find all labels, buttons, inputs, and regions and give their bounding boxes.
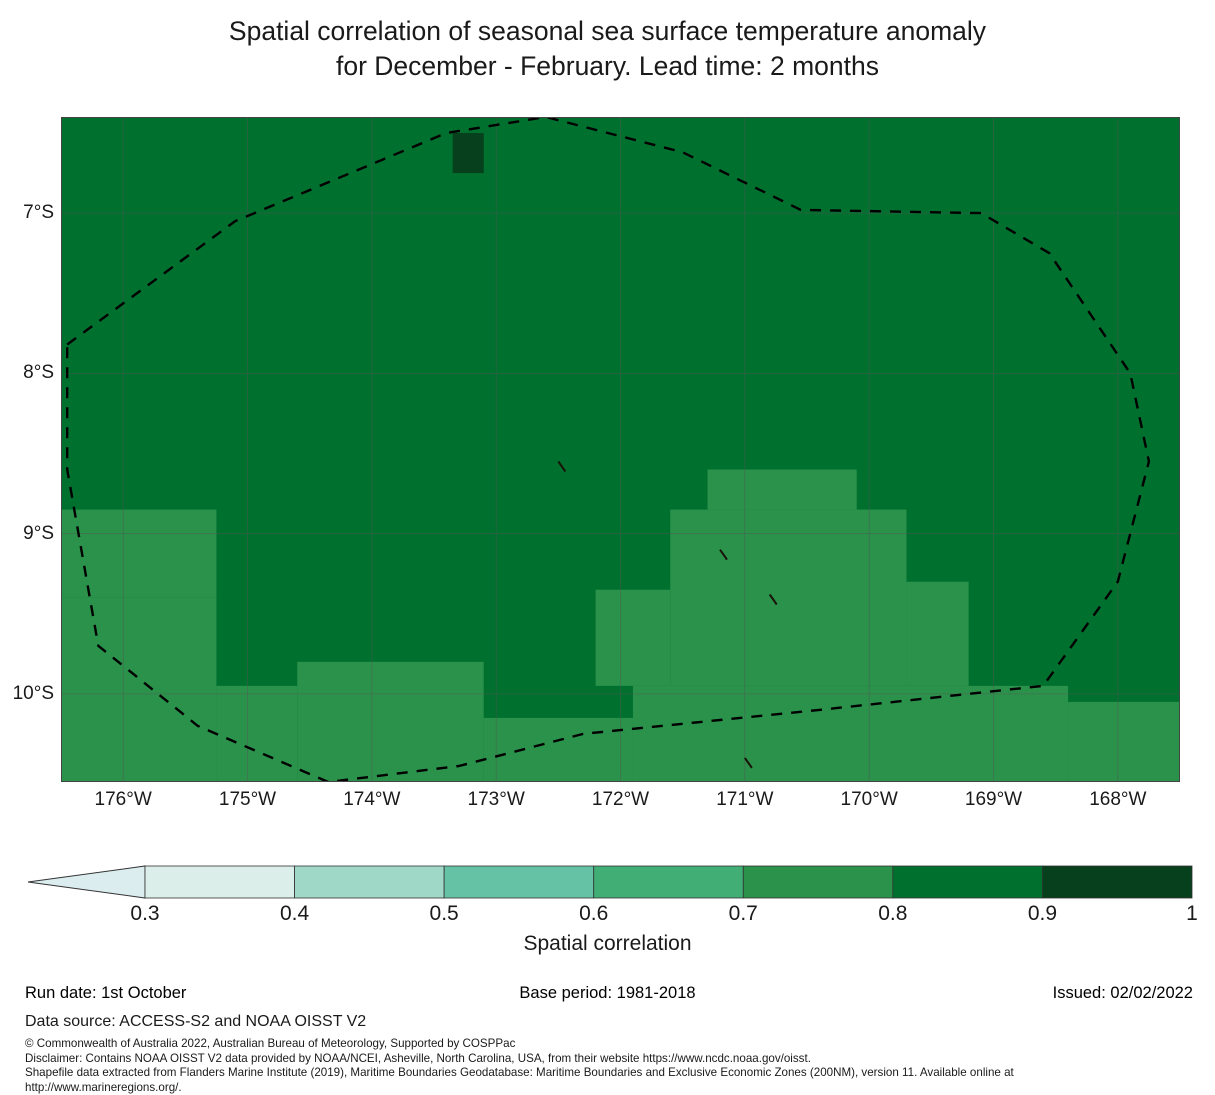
colorbar-tick-label: 0.4 bbox=[235, 902, 355, 926]
shapefile-line-2: http://www.marineregions.org/. bbox=[25, 1081, 1210, 1095]
heatmap-region bbox=[453, 133, 484, 173]
issued-date: Issued: 02/02/2022 bbox=[1053, 984, 1193, 1003]
colorbar-swatch bbox=[893, 866, 1043, 898]
colorbar-under-arrow bbox=[28, 866, 145, 898]
colorbar-tick-label: 0.5 bbox=[384, 902, 504, 926]
data-source-text: Data source: ACCESS-S2 and NOAA OISST V2 bbox=[25, 1013, 366, 1031]
colorbar-swatch bbox=[295, 866, 445, 898]
heatmap-canvas bbox=[61, 117, 1180, 782]
y-tick-label: 8°S bbox=[0, 362, 54, 384]
copyright-line: © Commonwealth of Australia 2022, Austra… bbox=[25, 1037, 1210, 1052]
y-tick-label: 9°S bbox=[0, 523, 54, 545]
colorbar-swatch bbox=[145, 866, 295, 898]
title-line-1: Spatial correlation of seasonal sea surf… bbox=[0, 14, 1215, 49]
colorbar-tick-label: 0.3 bbox=[85, 902, 205, 926]
legal-fineprint: © Commonwealth of Australia 2022, Austra… bbox=[25, 1037, 1210, 1095]
colorbar-swatches bbox=[0, 862, 1215, 902]
heatmap-region bbox=[484, 718, 633, 782]
heatmap-region bbox=[297, 662, 484, 782]
y-tick-label: 10°S bbox=[0, 683, 54, 705]
shapefile-line-1: Shapefile data extracted from Flanders M… bbox=[25, 1066, 1210, 1081]
colorbar-swatch bbox=[594, 866, 744, 898]
x-tick-label: 168°W bbox=[1038, 789, 1198, 811]
disclaimer-line: Disclaimer: Contains NOAA OISST V2 data … bbox=[25, 1052, 1210, 1067]
colorbar-tick-label: 0.6 bbox=[534, 902, 654, 926]
map-plot-area bbox=[61, 117, 1180, 782]
colorbar-swatch bbox=[743, 866, 893, 898]
colorbar-tick-label: 0.9 bbox=[982, 902, 1102, 926]
heatmap-region bbox=[596, 590, 671, 686]
title-line-2: for December - February. Lead time: 2 mo… bbox=[0, 49, 1215, 84]
heatmap-region bbox=[216, 686, 297, 782]
colorbar: 0.30.40.50.60.70.80.91 Spatial correlati… bbox=[0, 862, 1215, 962]
colorbar-tick-label: 0.7 bbox=[683, 902, 803, 926]
heatmap-region bbox=[1068, 702, 1180, 782]
heatmap-region bbox=[61, 598, 216, 782]
heatmap-region bbox=[906, 582, 968, 686]
base-period: Base period: 1981-2018 bbox=[0, 984, 1215, 1003]
heatmap-region bbox=[633, 686, 1068, 782]
colorbar-tick-label: 0.8 bbox=[833, 902, 953, 926]
page-title: Spatial correlation of seasonal sea surf… bbox=[0, 14, 1215, 84]
heatmap-region bbox=[670, 510, 906, 686]
colorbar-tick-label: 1 bbox=[1132, 902, 1215, 926]
y-tick-label: 7°S bbox=[0, 202, 54, 224]
colorbar-swatch bbox=[1042, 866, 1192, 898]
heatmap-region bbox=[61, 510, 216, 598]
colorbar-swatch bbox=[444, 866, 594, 898]
metadata-row: Run date: 1st October Base period: 1981-… bbox=[0, 984, 1215, 1006]
colorbar-label: Spatial correlation bbox=[0, 932, 1215, 956]
heatmap-region bbox=[708, 470, 857, 510]
